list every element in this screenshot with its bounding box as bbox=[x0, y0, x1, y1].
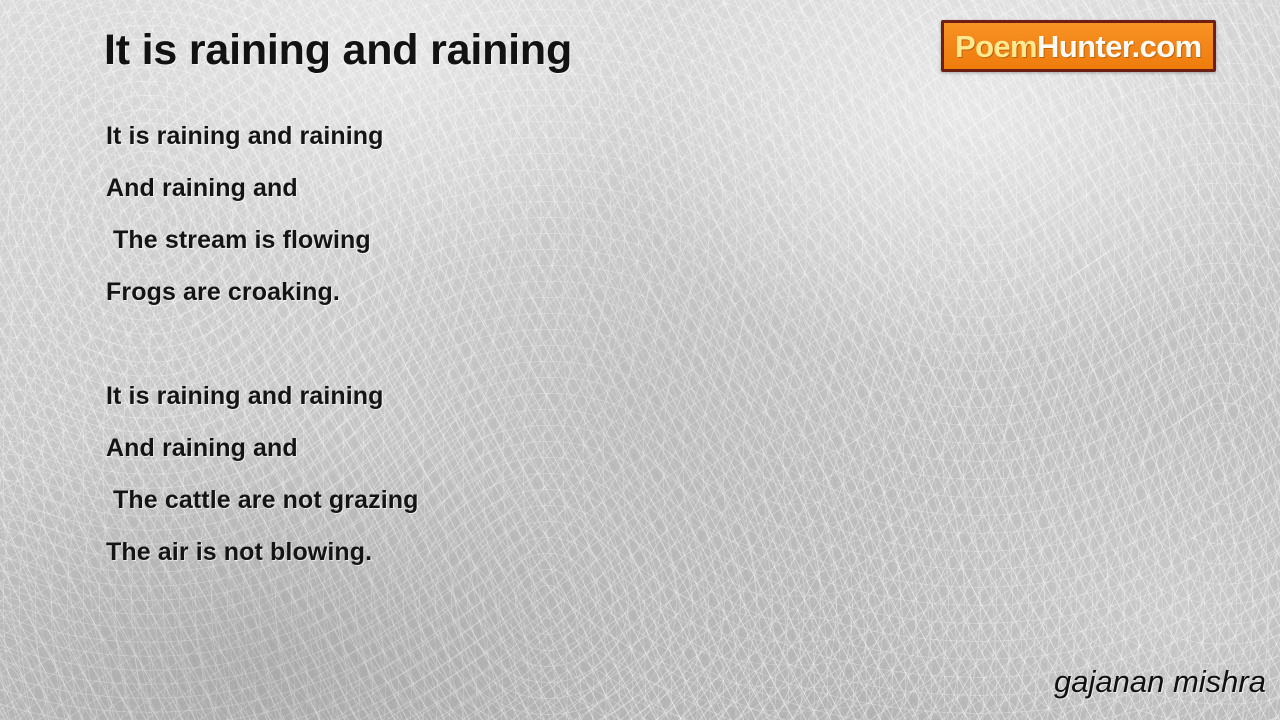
poem-line: The stream is flowing bbox=[106, 214, 866, 266]
poem-image-canvas: It is raining and raining It is raining … bbox=[0, 0, 1280, 720]
poem-body: It is raining and raining And raining an… bbox=[106, 110, 866, 578]
poem-author: gajanan mishra bbox=[1054, 664, 1266, 700]
poem-line: The air is not blowing. bbox=[106, 526, 866, 578]
poem-content: It is raining and raining It is raining … bbox=[0, 0, 1280, 720]
poem-stanza-gap bbox=[106, 318, 866, 370]
logo-text-poem: Poem bbox=[955, 31, 1037, 62]
poemhunter-logo[interactable]: PoemHunter.com bbox=[941, 20, 1216, 72]
poem-line: It is raining and raining bbox=[106, 370, 866, 422]
poem-line: And raining and bbox=[106, 422, 866, 474]
page-title: It is raining and raining bbox=[104, 26, 572, 75]
poem-line: And raining and bbox=[106, 162, 866, 214]
poem-line: The cattle are not grazing bbox=[106, 474, 866, 526]
logo-text-hunter: Hunter.com bbox=[1037, 31, 1202, 62]
poem-line: Frogs are croaking. bbox=[106, 266, 866, 318]
poem-line: It is raining and raining bbox=[106, 110, 866, 162]
